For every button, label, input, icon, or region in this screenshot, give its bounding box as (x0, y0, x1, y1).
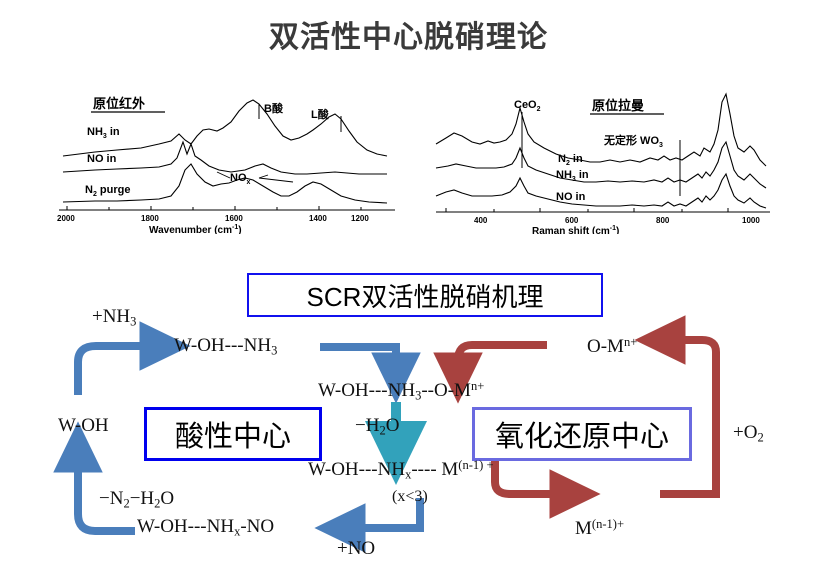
ir-trace-label-no-in: NO in (87, 153, 117, 165)
node-w-oh: W-OH (58, 415, 109, 437)
ir-tick-1600: 1600 (225, 214, 243, 223)
redox-center-box[interactable]: 氧化还原中心 (472, 407, 692, 461)
ir-tick-2000: 2000 (57, 214, 75, 223)
scr-mechanism-diagram: SCR双活性脱硝机理 酸性中心 氧化还原中心 W-OH W-OH---NH3 W… (0, 250, 817, 569)
node-x-constraint: (x<3) (392, 488, 428, 506)
mechanism-title-box[interactable]: SCR双活性脱硝机理 (247, 273, 603, 317)
edge-label-add-nh3: +NH3 (92, 306, 136, 330)
raman-caption: 原位拉曼 (592, 98, 644, 113)
node-o-m-oxidized: O-Mn+ (587, 335, 637, 358)
arrow-om-to-complex (458, 345, 547, 378)
acid-center-box[interactable]: 酸性中心 (144, 407, 322, 461)
ir-tick-1200-visible: 1200 (351, 214, 369, 223)
insitu-raman-chart: 原位拉曼 CeO2 无定形 WO3 N2 in NH3 in NO in (432, 86, 774, 234)
ir-trace-label-nh3-in: NH3 in (87, 126, 120, 140)
raman-axis-title: Raman shift (cm-1) (532, 225, 619, 234)
node-w-oh-nh3: W-OH---NH3 (174, 335, 277, 359)
raman-peak-label-amorphous-wo3: 无定形 WO3 (603, 133, 663, 149)
node-complex: W-OH---NH3--O-Mn+ (318, 379, 484, 403)
slide-canvas: 双活性中心脱硝理论 原位红外 B酸 L酸 NH3 in NO in N2 pur… (0, 0, 817, 569)
page-title: 双活性中心脱硝理论 (0, 12, 817, 56)
node-reduced-intermediate: W-OH---NHx---- M(n-1) + (308, 458, 494, 482)
raman-tick-800: 800 (656, 216, 670, 225)
raman-trace-label-nh3-in: NH3 in (556, 169, 589, 183)
ir-caption: 原位红外 (93, 96, 145, 111)
node-nitroso-intermediate: W-OH---NHx-NO (137, 516, 274, 540)
ir-peak-label-b-acid: B酸 (264, 101, 284, 115)
ir-axis-title: Wavenumber (cm-1) (149, 224, 242, 234)
ir-peak-label-l-acid: L酸 (311, 107, 330, 121)
ir-tick-1400: 1400 (309, 214, 327, 223)
ir-annotation-nox: NOx (230, 172, 251, 186)
arrow-woh-nh3-to-complex (320, 347, 396, 378)
raman-tick-1000: 1000 (742, 216, 760, 225)
raman-peak-label-ceo2: CeO2 (514, 99, 541, 113)
raman-tick-400: 400 (474, 216, 488, 225)
edge-label-add-no: +NO (337, 538, 375, 560)
arrow-reduced-to-m-reduced (495, 458, 575, 494)
edge-label-minus-h2o: −H2O (355, 415, 399, 439)
raman-trace-label-n2-in: N2 in (558, 153, 583, 167)
raman-tick-600: 600 (565, 216, 579, 225)
arrow-woh-to-woh-nh3 (78, 346, 165, 395)
node-m-reduced: M(n-1)+ (575, 517, 624, 540)
insitu-ir-chart: 原位红外 B酸 L酸 NH3 in NO in N2 purge NOx (55, 86, 400, 234)
ir-trace-label-n2-purge: N2 purge (85, 184, 130, 198)
raman-trace-label-no-in: NO in (556, 191, 586, 203)
ir-tick-1800: 1800 (141, 214, 159, 223)
edge-label-minus-n2-h2o: −N2−H2O (99, 488, 174, 512)
edge-label-add-o2: +O2 (733, 422, 764, 446)
